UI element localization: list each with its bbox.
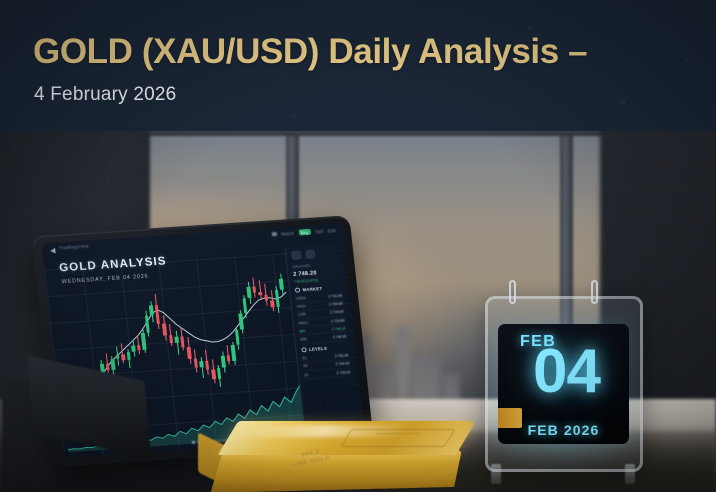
screenshot-root: GOLD (XAU/USD) Daily Analysis – 4 Februa… xyxy=(0,0,716,492)
quote-row-label: R1 xyxy=(302,356,307,360)
search-icon[interactable] xyxy=(291,250,302,260)
nav-item-edit[interactable]: Edit xyxy=(328,228,337,234)
window-header-frame xyxy=(138,131,608,136)
levels-icon xyxy=(301,347,307,352)
quote-row-value: 2 724.60 xyxy=(330,310,344,315)
chart-type-icon[interactable] xyxy=(272,232,277,236)
quote-row-label: HIGH xyxy=(297,304,306,309)
back-arrow-icon[interactable] xyxy=(50,248,56,254)
quote-row-label: PP xyxy=(303,364,308,368)
quote-row-label: ASK xyxy=(300,337,307,341)
section-levels: LEVELS xyxy=(301,344,347,352)
price-change: +18.40 (0.67%) xyxy=(294,276,340,283)
gear-icon[interactable] xyxy=(305,249,316,259)
calendar-day-number: 04 xyxy=(509,341,624,403)
sidebar-buttons xyxy=(291,248,338,260)
quote-row: ASK2 748.35 xyxy=(300,333,347,344)
calendar-display: FEB 04 FEB 2026 xyxy=(498,324,629,444)
level-rows: R12 762.00PP2 744.00S12 726.00 xyxy=(302,352,351,379)
gold-bar: 999.9 FINE GOLD xyxy=(198,421,466,492)
nav-item-buy[interactable]: Buy xyxy=(298,229,311,236)
market-rows: OPEN2 731.05HIGH2 759.80LOW2 724.60PREV2… xyxy=(296,292,347,344)
quote-row-value: 2 762.00 xyxy=(335,354,349,359)
calendar-foot xyxy=(625,464,635,484)
quote-row: S12 726.00 xyxy=(304,368,351,379)
calendar-month-year: FEB 2026 xyxy=(498,422,629,438)
gold-bar-emboss-line xyxy=(372,433,421,441)
quote-row-label: OPEN xyxy=(296,296,306,301)
quote-row-value: 2 748.35 xyxy=(333,335,347,340)
quote-row-value: 2 744.00 xyxy=(335,362,349,367)
quote-row-value: 2 731.05 xyxy=(328,294,342,299)
page-title: GOLD (XAU/USD) Daily Analysis – xyxy=(33,32,587,72)
calendar-foot xyxy=(491,464,501,484)
nav-item-sell[interactable]: Sell xyxy=(315,228,323,233)
page-subtitle: 4 February 2026 xyxy=(34,84,176,106)
quote-row-value: 2 729.80 xyxy=(331,318,345,323)
quote-row-label: BID xyxy=(299,329,305,333)
gear-icon xyxy=(295,287,301,292)
header-banner: GOLD (XAU/USD) Daily Analysis – 4 Februa… xyxy=(0,0,716,131)
tradingview-logo-icon xyxy=(191,441,194,444)
section-market-label: MARKET xyxy=(302,286,322,292)
calendar-ring xyxy=(509,280,516,304)
scene-photo: TradingView Watch Buy Sell Edit GOLD ANA… xyxy=(0,131,716,492)
section-market: MARKET xyxy=(295,284,341,292)
desk-calendar: FEB 04 FEB 2026 xyxy=(479,286,649,486)
nav-item-watch[interactable]: Watch xyxy=(281,230,294,236)
quote-row-label: LOW xyxy=(298,313,306,318)
app-brand-label: TradingView xyxy=(59,243,89,250)
quote-row-value: 2 759.80 xyxy=(329,302,343,307)
quote-row-value: 2 748.10 xyxy=(332,326,346,331)
quote-row-value: 2 726.00 xyxy=(336,370,350,375)
quote-row-label: S1 xyxy=(304,373,309,377)
app-nav: Watch Buy Sell Edit xyxy=(271,227,336,237)
calendar-ring xyxy=(591,280,598,304)
quote-row-label: PREV xyxy=(298,321,308,326)
section-levels-label: LEVELS xyxy=(309,345,328,351)
